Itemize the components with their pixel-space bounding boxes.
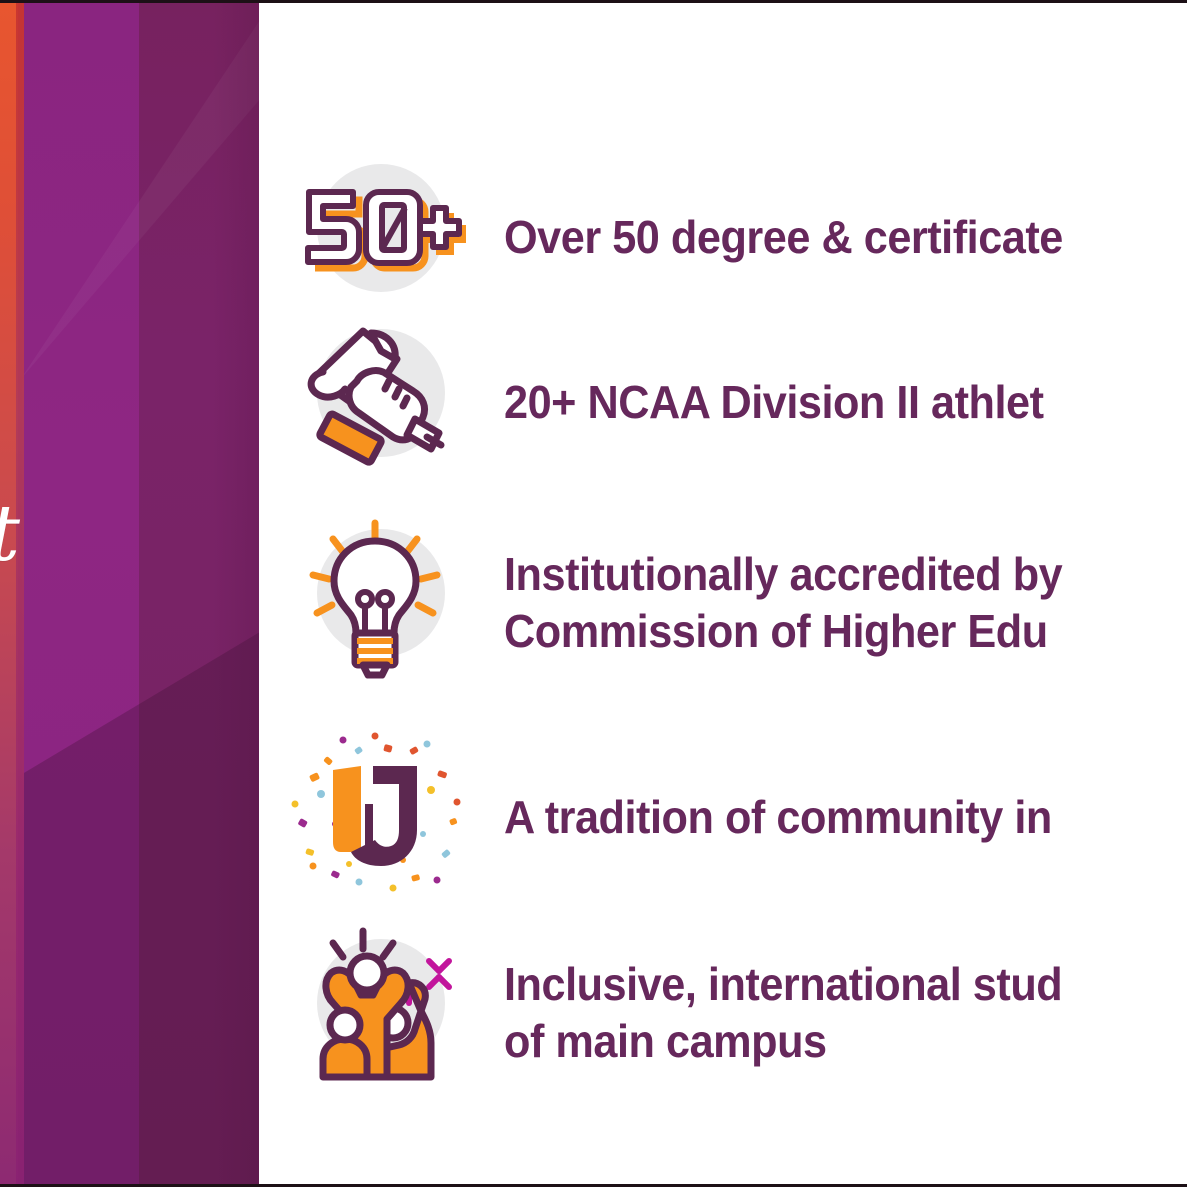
fifty-plus-icon bbox=[289, 150, 464, 325]
fact-text: Inclusive, international stud of main ca… bbox=[504, 956, 1146, 1068]
fact-text: 20+ NCAA Division II athlet bbox=[504, 374, 1146, 430]
fact-text: Institutionally accredited by Commission… bbox=[504, 546, 1146, 658]
fact-text: Over 50 degree & certificate bbox=[504, 209, 1146, 265]
fact-row: Over 50 degree & certificate bbox=[259, 150, 1187, 325]
lightbulb-icon bbox=[289, 515, 464, 690]
facts-list: Over 50 degree & certificate bbox=[259, 0, 1187, 1187]
fact-row: 20+ NCAA Division II athlet bbox=[259, 315, 1187, 490]
university-u-logo-icon bbox=[289, 730, 464, 905]
panel-accent-seam bbox=[16, 0, 24, 1187]
panel-edge-shade bbox=[213, 0, 259, 1187]
trophy-icon bbox=[289, 315, 464, 490]
fact-row: Inclusive, international stud of main ca… bbox=[259, 925, 1187, 1100]
slide-top-border bbox=[0, 0, 1187, 3]
people-celebrating-icon bbox=[289, 925, 464, 1100]
fact-row: Institutionally accredited by Commission… bbox=[259, 515, 1187, 690]
fact-row: A tradition of community in bbox=[259, 730, 1187, 905]
slide-canvas: g At bbox=[0, 0, 1187, 1187]
panel-script-title: g At bbox=[0, 495, 180, 573]
fact-text: A tradition of community in bbox=[504, 789, 1146, 845]
left-decorative-panel: g At bbox=[0, 0, 259, 1187]
